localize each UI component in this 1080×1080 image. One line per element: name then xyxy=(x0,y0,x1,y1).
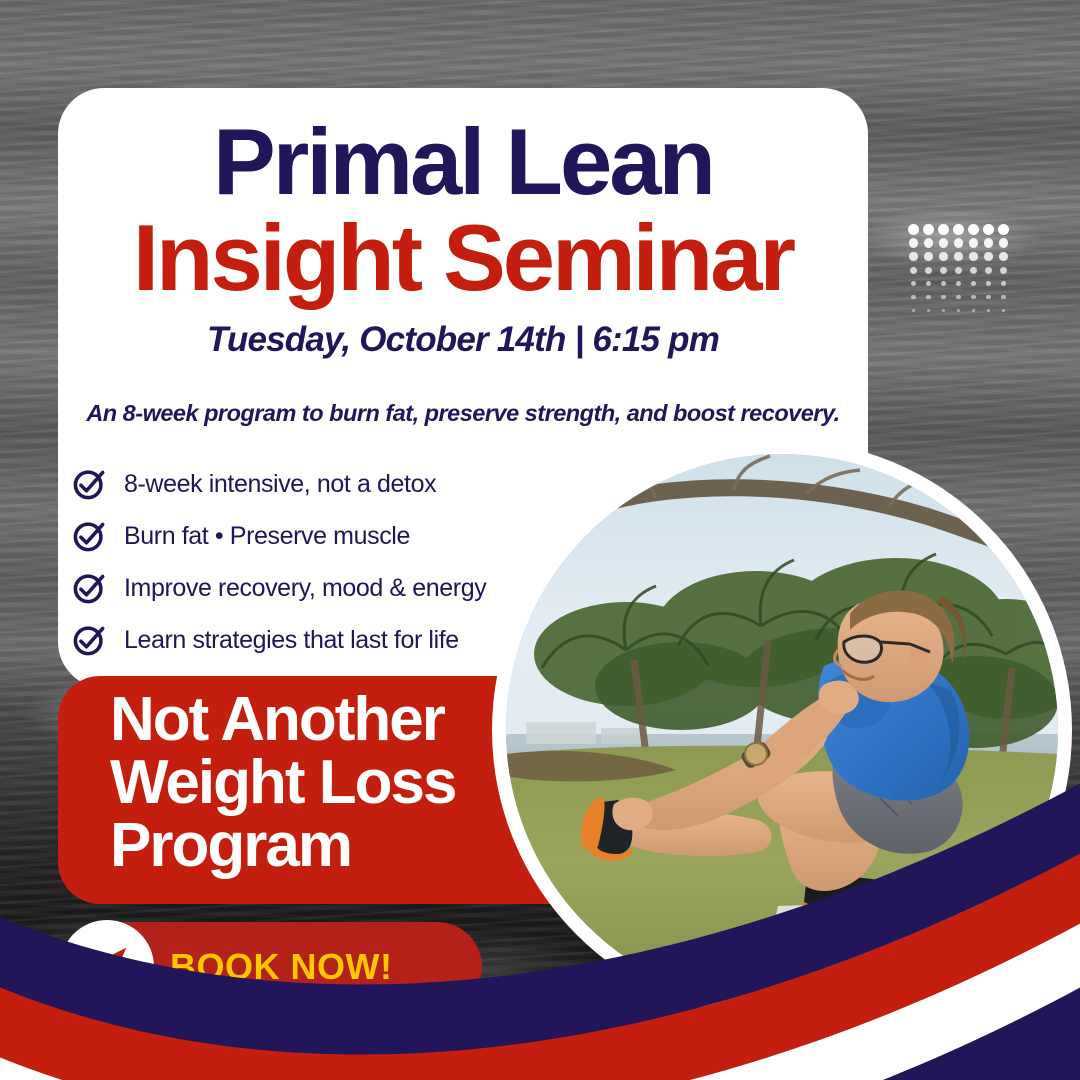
dot xyxy=(969,252,977,260)
list-item: Learn strategies that last for life xyxy=(66,614,526,666)
dot xyxy=(908,224,919,235)
dot xyxy=(924,252,932,260)
dot xyxy=(910,267,917,274)
list-item-label: Learn strategies that last for life xyxy=(124,626,459,655)
hero-photo-illustration xyxy=(506,454,1058,1006)
check-circle-icon xyxy=(72,571,106,605)
dot xyxy=(911,281,917,287)
dot xyxy=(942,309,945,312)
list-item-label: 8-week intensive, not a detox xyxy=(124,470,436,499)
dot xyxy=(954,252,962,260)
dot xyxy=(986,281,992,287)
list-item-label: Improve recovery, mood & energy xyxy=(124,574,486,603)
dot xyxy=(909,238,919,248)
dot xyxy=(972,309,975,312)
dot xyxy=(984,238,994,248)
dot xyxy=(968,224,979,235)
check-circle-icon xyxy=(72,519,106,553)
benefits-list: 8-week intensive, not a detox Burn fat •… xyxy=(66,458,526,666)
book-now-label: BOOK NOW! xyxy=(170,946,392,988)
headline-banner-text: Not Another Weight Loss Program xyxy=(110,688,455,878)
dot-grid-decoration xyxy=(908,224,1014,316)
dot xyxy=(925,267,932,274)
dot xyxy=(941,281,947,287)
navigation-arrow-icon xyxy=(60,920,154,1014)
dot xyxy=(983,224,994,235)
hero-photo-frame xyxy=(492,440,1072,1020)
page-title-line2: Insight Seminar xyxy=(58,212,868,304)
dot xyxy=(1002,309,1005,312)
dot xyxy=(986,295,990,299)
dot xyxy=(1001,281,1007,287)
dot xyxy=(987,309,990,312)
poster-canvas: Primal Lean Insight Seminar Tuesday, Oct… xyxy=(0,0,1080,1080)
dot xyxy=(940,267,947,274)
book-now-button[interactable]: BOOK NOW! xyxy=(62,922,482,1012)
dot xyxy=(941,295,945,299)
check-circle-icon xyxy=(72,623,106,657)
headline-line1: Not Another xyxy=(110,688,455,751)
dot xyxy=(985,267,992,274)
dot xyxy=(955,267,962,274)
dot xyxy=(971,281,977,287)
hero-photo xyxy=(506,454,1058,1006)
dot xyxy=(954,238,964,248)
dot xyxy=(939,252,947,260)
list-item-label: Burn fat • Preserve muscle xyxy=(124,522,410,551)
dot xyxy=(912,309,915,312)
check-circle-icon xyxy=(72,467,106,501)
dot xyxy=(999,252,1007,260)
dot xyxy=(923,224,934,235)
event-date-time: Tuesday, October 14th | 6:15 pm xyxy=(58,320,868,360)
dot xyxy=(926,281,932,287)
dot xyxy=(999,238,1009,248)
dot xyxy=(984,252,992,260)
list-item: Burn fat • Preserve muscle xyxy=(66,510,526,562)
headline-line3: Program xyxy=(110,814,455,877)
dot xyxy=(969,238,979,248)
dot xyxy=(970,267,977,274)
dot xyxy=(971,295,975,299)
dot xyxy=(1000,267,1007,274)
dot xyxy=(926,295,930,299)
dot xyxy=(1001,295,1005,299)
dot xyxy=(909,252,917,260)
dot xyxy=(956,295,960,299)
dot xyxy=(938,224,949,235)
dot xyxy=(927,309,930,312)
dot xyxy=(998,224,1009,235)
list-item: Improve recovery, mood & energy xyxy=(66,562,526,614)
dot xyxy=(956,281,962,287)
list-item: 8-week intensive, not a detox xyxy=(66,458,526,510)
dot xyxy=(939,238,949,248)
dot xyxy=(911,295,915,299)
dot xyxy=(953,224,964,235)
dot xyxy=(957,309,960,312)
page-title-line1: Primal Lean xyxy=(58,116,868,208)
program-tagline: An 8-week program to burn fat, preserve … xyxy=(80,400,846,427)
headline-line2: Weight Loss xyxy=(110,751,455,814)
dot xyxy=(924,238,934,248)
